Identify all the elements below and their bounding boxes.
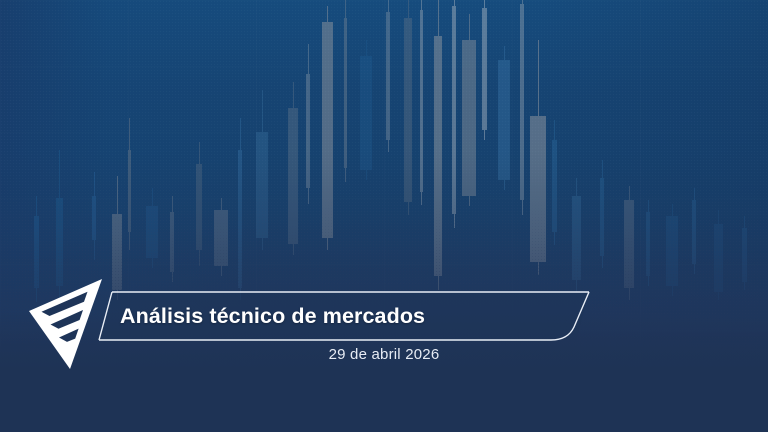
slide-date: 29 de abril 2026 [0,346,768,363]
title-banner: Análisis técnico de mercados [98,291,590,341]
bottom-band [0,370,768,432]
title-slide: Análisis técnico de mercados 29 de abril… [0,0,768,432]
page-title: Análisis técnico de mercados [120,291,425,341]
